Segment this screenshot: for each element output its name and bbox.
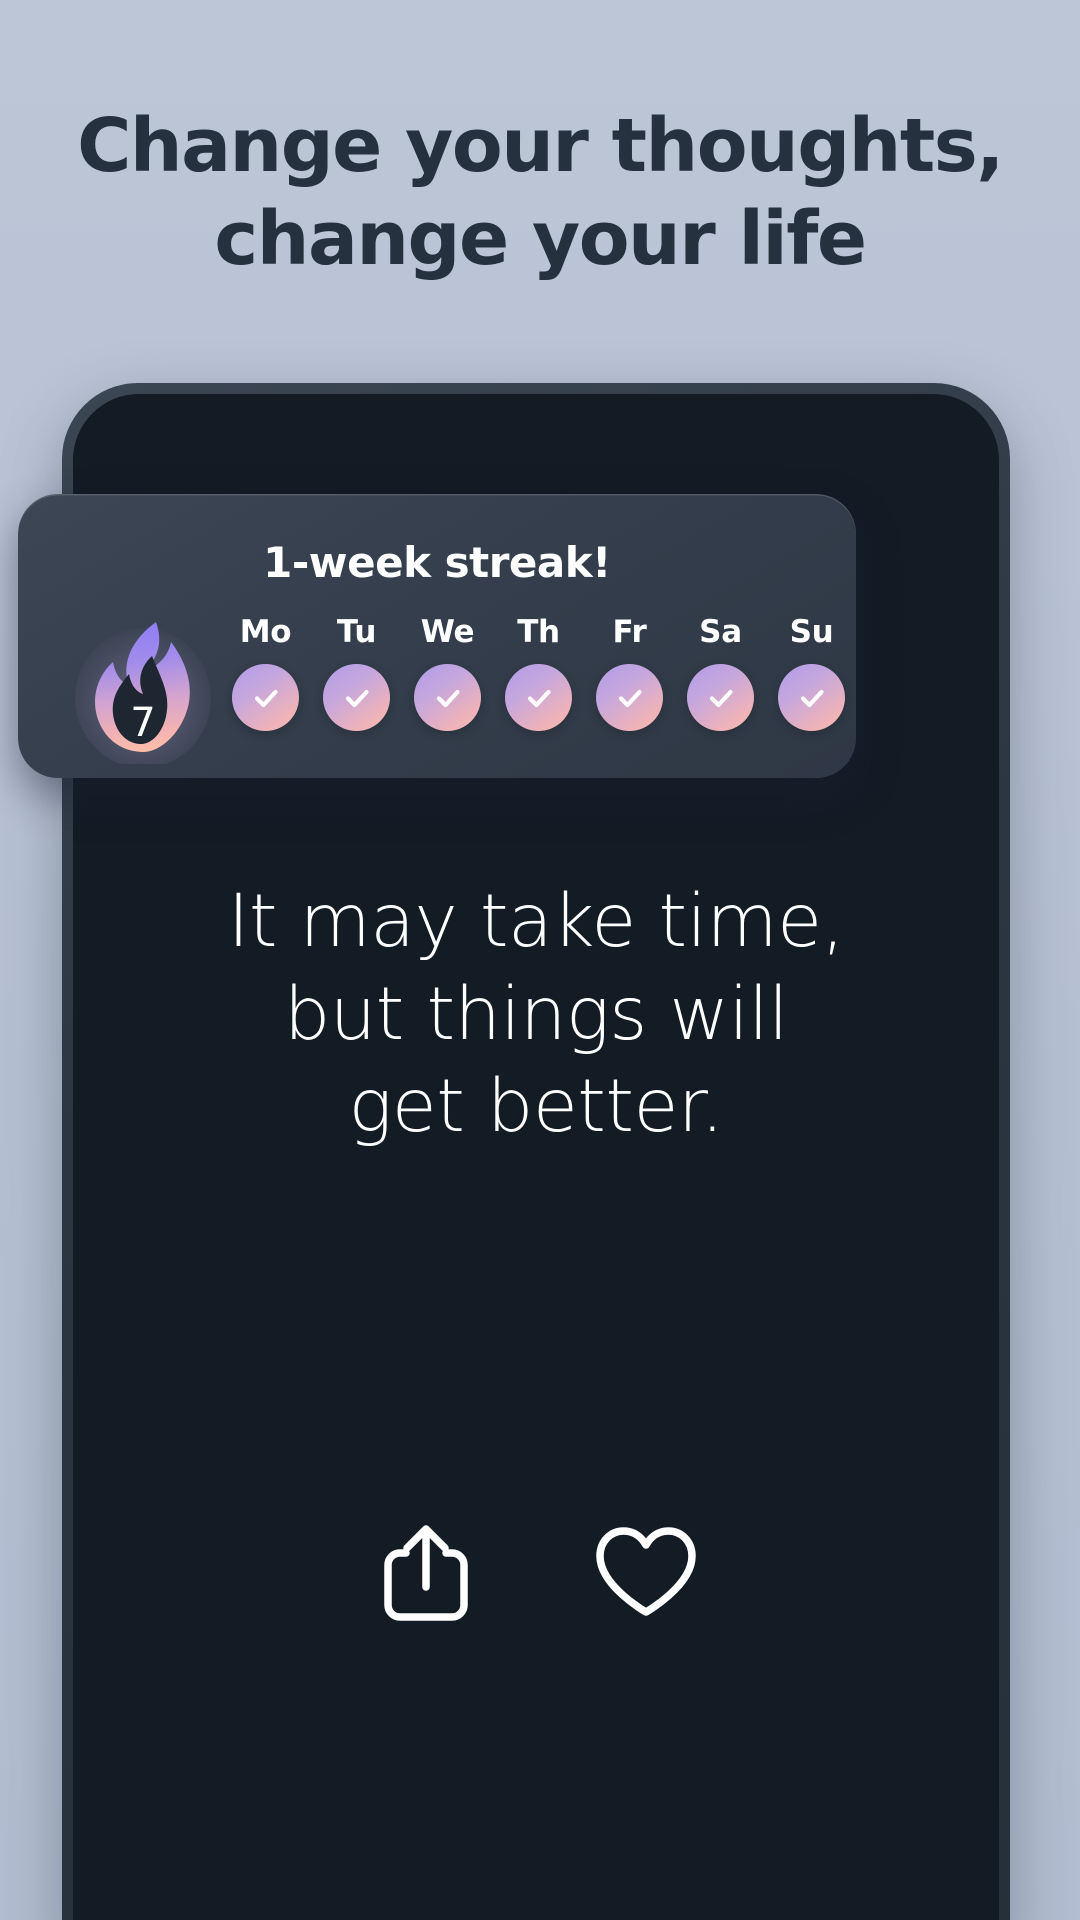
day-column[interactable]: Tu (311, 614, 402, 731)
favorite-button[interactable] (591, 1514, 701, 1636)
day-label: Mo (240, 614, 292, 650)
streak-days: Mo Tu We Th (220, 614, 856, 731)
quote-text: It may take time, but things will get be… (73, 876, 999, 1154)
headline-line-1: Change your thoughts, (77, 103, 1003, 189)
streak-count: 7 (73, 700, 213, 746)
streak-card[interactable]: 1-week streak! (18, 494, 856, 778)
action-bar (73, 1514, 999, 1636)
check-icon (249, 681, 283, 715)
check-icon (704, 681, 738, 715)
day-label: Fr (613, 614, 647, 650)
share-icon (380, 1521, 472, 1630)
quote-line-2: but things will (73, 969, 999, 1062)
streak-title: 1-week streak! (18, 538, 856, 587)
day-label: Tu (337, 614, 376, 650)
check-icon (431, 681, 465, 715)
day-check-circle[interactable] (778, 664, 845, 731)
day-check-circle[interactable] (232, 664, 299, 731)
day-check-circle[interactable] (414, 664, 481, 731)
page-title: Change your thoughts, change your life (0, 100, 1080, 285)
day-check-circle[interactable] (687, 664, 754, 731)
headline-line-2: change your life (0, 193, 1080, 286)
day-check-circle[interactable] (505, 664, 572, 731)
day-label: We (421, 614, 475, 650)
day-column[interactable]: Fr (584, 614, 675, 731)
day-label: Sa (699, 614, 742, 650)
day-column[interactable]: Th (493, 614, 584, 731)
check-icon (613, 681, 647, 715)
day-label: Th (517, 614, 560, 650)
share-button[interactable] (371, 1514, 481, 1636)
heart-icon (592, 1524, 700, 1627)
app-screenshot: Change your thoughts, change your life I… (0, 0, 1080, 1920)
day-column[interactable]: Mo (220, 614, 311, 731)
day-check-circle[interactable] (323, 664, 390, 731)
day-label: Su (790, 614, 834, 650)
quote-line-3: get better. (73, 1061, 999, 1154)
check-icon (795, 681, 829, 715)
day-column[interactable]: Sa (675, 614, 766, 731)
check-icon (522, 681, 556, 715)
check-icon (340, 681, 374, 715)
day-check-circle[interactable] (596, 664, 663, 731)
quote-line-1: It may take time, (73, 876, 999, 969)
day-column[interactable]: Su (766, 614, 856, 731)
day-column[interactable]: We (402, 614, 493, 731)
streak-flame: 7 (73, 618, 213, 764)
